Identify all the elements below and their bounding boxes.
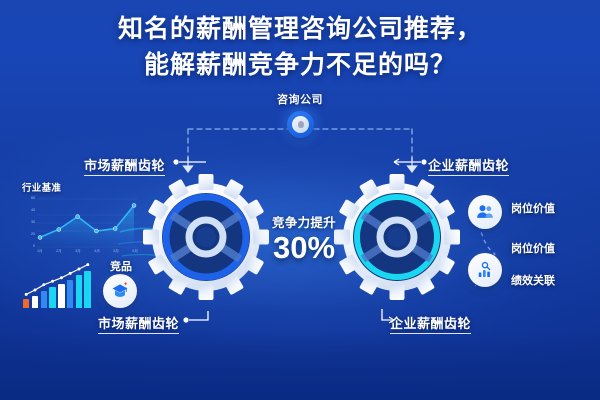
people-icon[interactable]: [468, 195, 502, 229]
chart-title: 行业基准: [22, 180, 138, 194]
chart-plot: 60 40 30 20 0 1月 2月 3月 4月 5月 6月: [22, 196, 138, 258]
x-tick: 2月: [56, 249, 62, 254]
label-enterprise-gear-top: 企业薪酬齿轮: [428, 155, 509, 176]
chart-y-axis: 60 40 30 20 0: [22, 196, 35, 248]
right-item-label-1: 岗位价值: [511, 240, 555, 256]
chart-x-axis: 1月 2月 3月 4月 5月 6月: [37, 249, 138, 254]
y-tick: 40: [31, 208, 35, 212]
kpi-label: 竞争力提升: [252, 212, 356, 231]
label-enterprise-gear-bottom: 企业薪酬齿轮: [390, 313, 471, 334]
compensation-bar-chart: [23, 262, 109, 308]
line-series: [37, 196, 137, 250]
x-tick: 5月: [113, 249, 119, 254]
x-tick: 3月: [75, 249, 81, 254]
y-tick: 60: [31, 196, 35, 200]
y-tick: 30: [31, 220, 35, 224]
x-tick: 1月: [37, 249, 43, 254]
right-item-label-2: 绩效关联: [511, 272, 555, 288]
kpi-value: 30%: [252, 231, 356, 264]
page-title: 知名的薪酬管理咨询公司推荐， 能解薪酬竞争力不足的吗？: [0, 11, 600, 83]
bar-chart-icon[interactable]: [468, 253, 502, 287]
kpi-block: 竞争力提升 30%: [252, 212, 356, 264]
label-market-gear-bottom: 市场薪酬齿轮: [98, 313, 179, 334]
bar-overlay-line: [23, 262, 109, 308]
competitor-label: 竞品: [110, 258, 132, 274]
y-tick: 0: [33, 244, 35, 248]
people-glyph: [475, 202, 495, 222]
headline-line-2: 能解薪酬竞争力不足的吗？: [0, 47, 600, 83]
competitor-badge-icon[interactable]: [103, 274, 137, 308]
y-tick: 20: [31, 232, 35, 236]
label-market-gear-top: 市场薪酬齿轮: [84, 155, 165, 176]
x-tick: 4月: [94, 249, 100, 254]
headline-line-1: 知名的薪酬管理咨询公司推荐，: [0, 11, 600, 47]
industry-benchmark-chart: 行业基准 60 40 30 20 0 1月 2月 3月 4月: [22, 180, 138, 258]
competitor-glyph: [110, 281, 130, 301]
x-tick: 6月: [132, 249, 138, 254]
bar-chart-glyph: [475, 260, 495, 280]
consulting-node-icon[interactable]: [287, 111, 314, 138]
center-node-label: 咨询公司: [0, 91, 600, 107]
right-item-label-0: 岗位价值: [511, 200, 555, 216]
